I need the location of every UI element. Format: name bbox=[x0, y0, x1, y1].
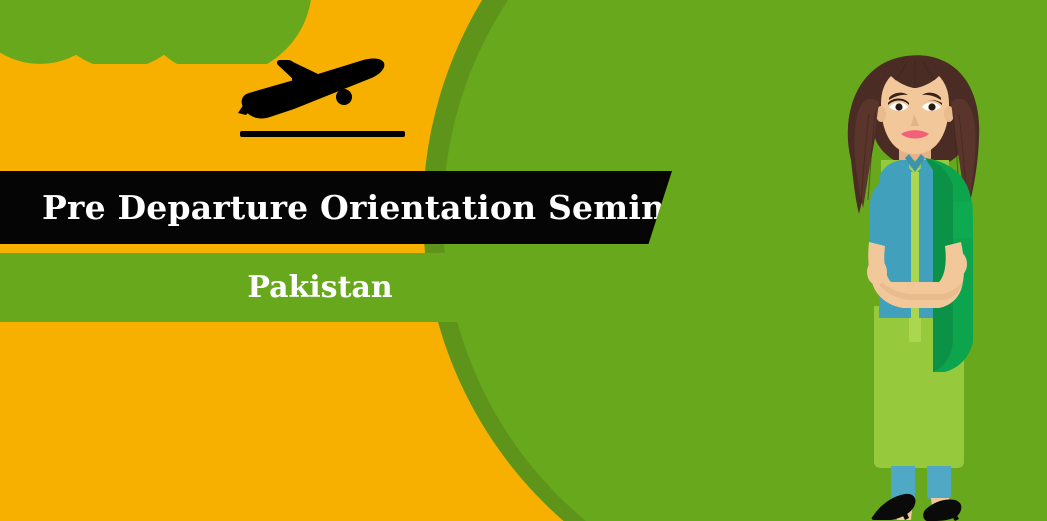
subtitle-bar: Pakistan bbox=[0, 253, 700, 322]
subtitle-country: Pakistan bbox=[247, 273, 392, 303]
pre-departure-orientation-banner: Pre Departure Orientation Seminar Pakist… bbox=[0, 0, 1047, 521]
woman-illustration bbox=[829, 42, 1019, 521]
page-title: Pre Departure Orientation Seminar bbox=[0, 191, 704, 224]
title-bar: Pre Departure Orientation Seminar bbox=[0, 171, 672, 244]
airplane-takeoff-icon bbox=[232, 52, 412, 144]
